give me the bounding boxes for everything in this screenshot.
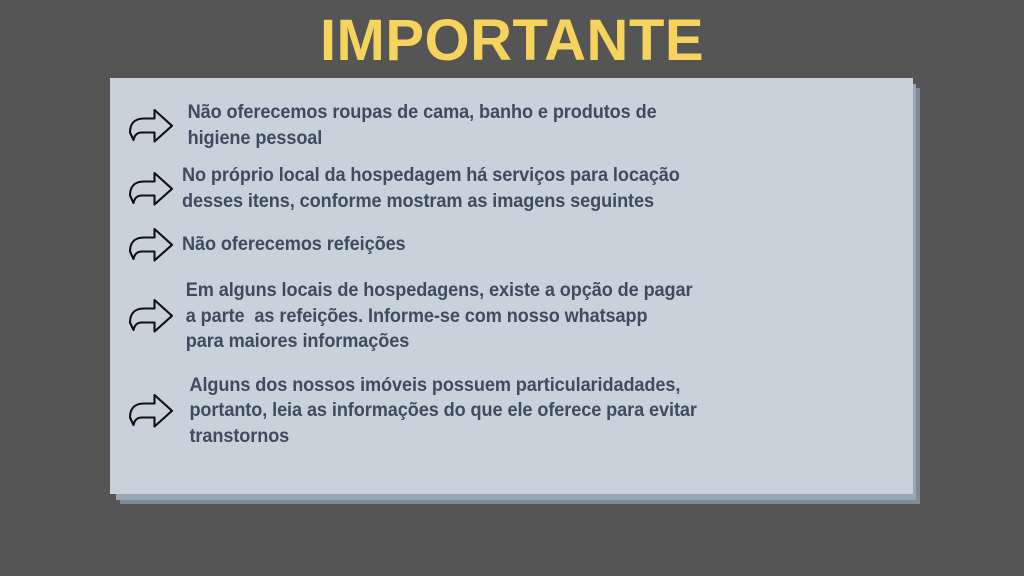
- list-item-text: Em alguns locais de hospedagens, existe …: [182, 278, 853, 355]
- list-item: Alguns dos nossos imóveis possuem partic…: [128, 373, 903, 450]
- list-item: Em alguns locais de hospedagens, existe …: [128, 278, 903, 355]
- right-arrow-icon: [128, 107, 182, 145]
- list-item: Não oferecemos roupas de cama, banho e p…: [128, 100, 903, 151]
- list-item: No próprio local da hospedagem há serviç…: [128, 163, 903, 214]
- right-arrow-icon: [128, 170, 182, 208]
- list-item-text: Alguns dos nossos imóveis possuem partic…: [182, 373, 853, 450]
- bullet-list: Não oferecemos roupas de cama, banho e p…: [110, 78, 913, 494]
- list-item-text: No próprio local da hospedagem há serviç…: [182, 163, 853, 214]
- slide-canvas: IMPORTANTE Não oferecemos roupas de cama…: [0, 0, 1024, 576]
- list-item-text: Não oferecemos roupas de cama, banho e p…: [182, 100, 853, 151]
- slide-title: IMPORTANTE: [0, 8, 1024, 74]
- list-item-text: Não oferecemos refeições: [182, 232, 853, 258]
- right-arrow-icon: [128, 297, 182, 335]
- right-arrow-icon: [128, 392, 182, 430]
- right-arrow-icon: [128, 226, 182, 264]
- list-item: Não oferecemos refeições: [128, 226, 903, 264]
